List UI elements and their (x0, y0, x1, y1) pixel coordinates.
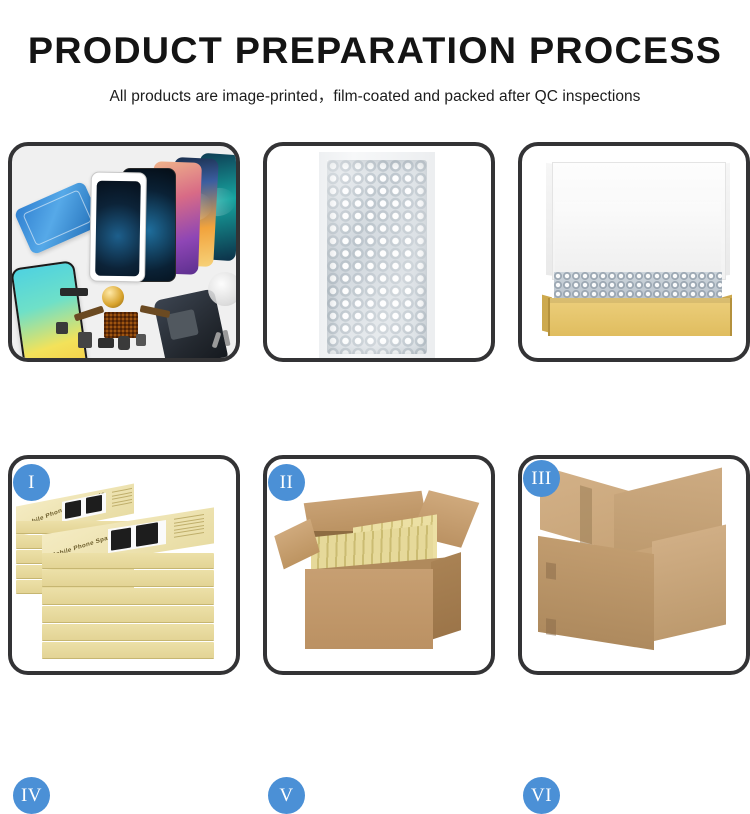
retail-box-front-4 (42, 606, 214, 622)
product-preparation-infographic: PRODUCT PREPARATION PROCESS All products… (0, 0, 750, 750)
process-steps-grid: Mobile Phone Spare Parts Mobile Phone Sp… (8, 142, 742, 676)
step-badge-4: IV (13, 777, 50, 814)
box-front-panel (548, 298, 732, 336)
bubble-wrap-pouch (327, 160, 427, 354)
small-part-1 (78, 332, 92, 348)
step-badge-2: II (268, 464, 305, 501)
connector-chip-part (104, 312, 138, 338)
step-2-image (267, 146, 491, 358)
step-panel-3 (518, 142, 750, 362)
step-badge-1: I (13, 464, 50, 501)
retail-box-swatch-2b (136, 522, 158, 546)
retail-box-front-6 (42, 642, 214, 658)
step-panel-1 (8, 142, 240, 362)
retail-box-swatch-1b (86, 495, 102, 514)
header: PRODUCT PREPARATION PROCESS All products… (0, 0, 750, 106)
retail-box-swatch-1a (65, 500, 81, 519)
retail-box-speclines-2 (174, 514, 204, 540)
step-badge-6: VI (523, 777, 560, 814)
step-panel-2 (263, 142, 495, 362)
foam-insert (555, 202, 721, 276)
step-6-image (522, 459, 746, 671)
page-subtitle: All products are image-printed，film-coat… (0, 71, 750, 106)
battery-connector-part (60, 288, 88, 296)
repair-tool (208, 272, 236, 306)
retail-box-front-2 (42, 570, 214, 586)
carton-fold-seam-top (546, 562, 556, 580)
sealed-carton-side (652, 524, 726, 641)
step-badge-3: III (523, 460, 560, 497)
retail-box-front-3 (42, 588, 214, 604)
small-part-4 (136, 334, 146, 346)
small-part-3 (118, 336, 130, 350)
carton-side-panel (431, 552, 461, 640)
step-3-image (522, 146, 746, 358)
step-badge-5: V (268, 777, 305, 814)
retail-box-front-1 (42, 553, 214, 568)
small-part-5 (56, 322, 68, 334)
step-1-image (12, 146, 236, 358)
retail-box-speclines-1 (112, 488, 132, 509)
retail-box-swatch-2a (111, 528, 131, 551)
screen-protector-glass (89, 172, 147, 283)
retail-box-front-5 (42, 624, 214, 640)
small-part-2 (98, 338, 114, 348)
carton-front-panel (305, 569, 433, 649)
page-title: PRODUCT PREPARATION PROCESS (0, 0, 750, 71)
carton-fold-seam-bottom (546, 618, 556, 636)
vibration-motor-part (102, 286, 124, 308)
